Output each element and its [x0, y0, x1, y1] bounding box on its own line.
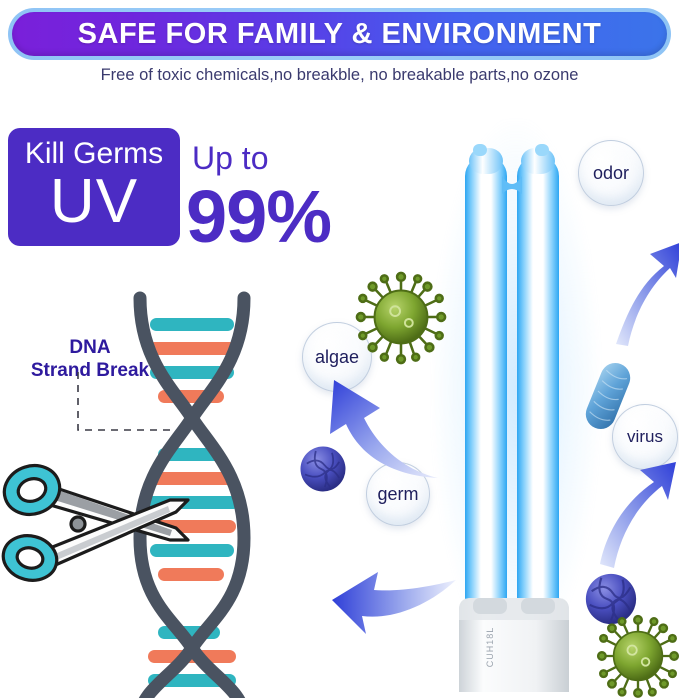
kill-germs-label: Kill Germs [25, 139, 163, 169]
uv-lamp-base [459, 598, 569, 692]
kill-germs-badge: Kill Germs UV [8, 128, 180, 246]
up-to-label: Up to [192, 140, 268, 177]
banner-title: SAFE FOR FAMILY & ENVIRONMENT [78, 18, 602, 51]
header-banner-outline: SAFE FOR FAMILY & ENVIRONMENT [8, 8, 671, 60]
percent-value: 99% [186, 174, 331, 259]
dna-rungs-upper [148, 318, 236, 403]
uv-tube-right [517, 144, 559, 642]
arrow-to-left-bottom [288, 538, 458, 658]
header-banner: SAFE FOR FAMILY & ENVIRONMENT [12, 12, 667, 56]
green-virus-icon-2 [596, 614, 679, 698]
rod-bacterium-icon [580, 356, 636, 436]
arrow-up-right-top [614, 238, 679, 350]
green-virus-icon [352, 268, 450, 366]
uv-label: UV [50, 171, 138, 233]
scissors-icon [0, 440, 200, 600]
uv-tube-left [465, 144, 507, 642]
bubble-label-odor: odor [578, 140, 644, 206]
uv-lamp-illustration [455, 140, 573, 692]
arrow-up-right-bottom [598, 456, 679, 572]
header-subtitle: Free of toxic chemicals,no breakble, no … [0, 66, 679, 85]
arrow-to-algae [300, 374, 440, 482]
infographic-canvas: SAFE FOR FAMILY & ENVIRONMENT Free of to… [0, 0, 679, 698]
